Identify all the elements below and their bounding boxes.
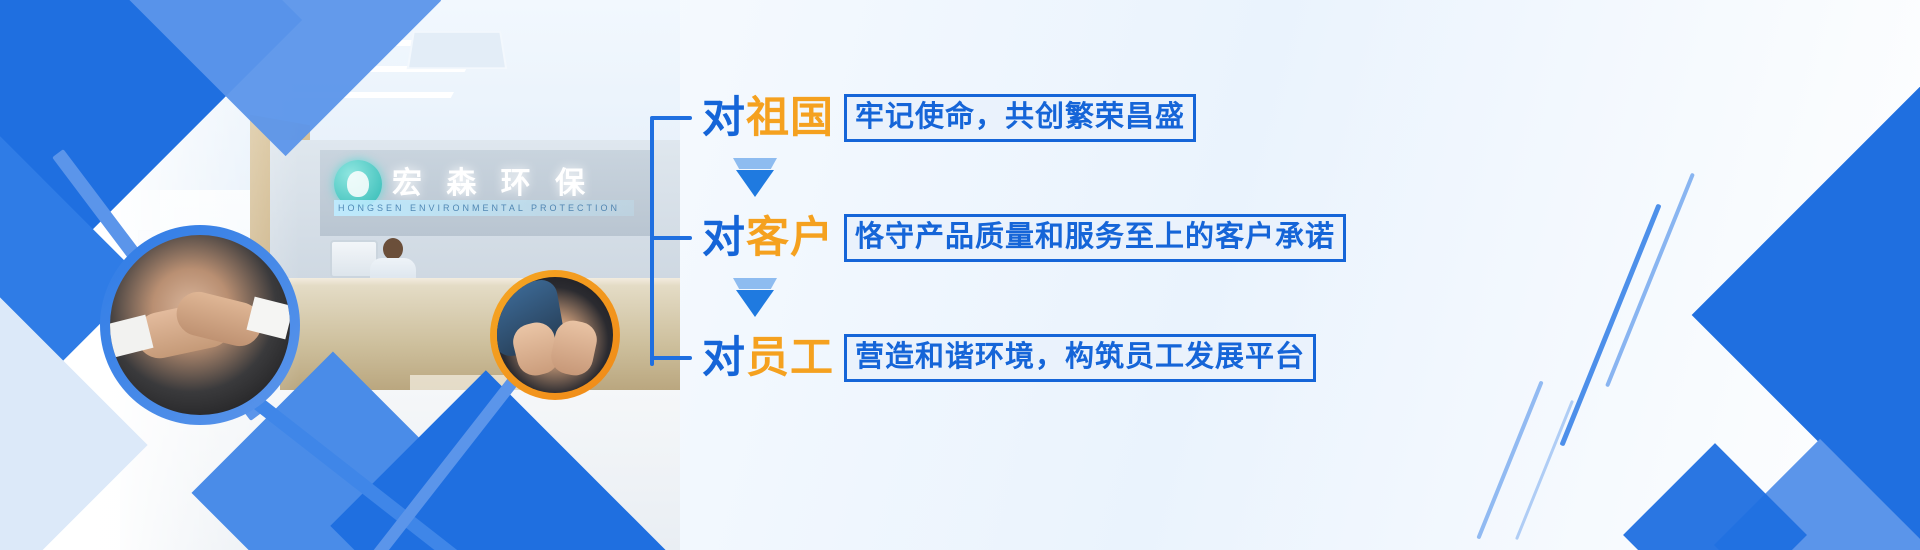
- photo-collage: 宏 森 环 保 HONGSEN ENVIRONMENTAL PROTECTION: [0, 0, 680, 550]
- value-row-3: 对员工 营造和谐环境，构筑员工发展平台: [650, 332, 1316, 384]
- value-row-1: 对祖国 牢记使命，共创繁荣昌盛: [650, 92, 1196, 144]
- row-tick-1: [650, 116, 692, 120]
- handshake-photo: [110, 235, 290, 415]
- arrow-top-2: [733, 278, 777, 289]
- value-heading-2: 对客户: [702, 217, 834, 260]
- row-tick-3: [650, 356, 692, 360]
- corporate-values-banner: 宏 森 环 保 HONGSEN ENVIRONMENTAL PROTECTION: [0, 0, 1920, 550]
- value-prefix-1: 对: [702, 94, 746, 142]
- arrow-top-1: [733, 158, 777, 169]
- value-prefix-3: 对: [702, 334, 746, 382]
- ceiling-vent: [407, 31, 508, 69]
- value-prefix-2: 对: [702, 214, 746, 262]
- applause-photo: [497, 277, 613, 393]
- arrow-bottom-2: [736, 290, 774, 317]
- row-tick-2: [650, 236, 692, 240]
- value-phrase-2: 恪守产品质量和服务至上的客户承诺: [844, 214, 1346, 262]
- value-target-1: 祖国: [746, 94, 834, 142]
- value-row-2: 对客户 恪守产品质量和服务至上的客户承诺: [650, 212, 1346, 264]
- company-name-en: HONGSEN ENVIRONMENTAL PROTECTION: [334, 200, 634, 216]
- decor-line-2: [1605, 173, 1695, 388]
- values-list: 对祖国 牢记使命，共创繁荣昌盛 对客户 恪守产品质量和服务至上的客户承诺 对员工…: [650, 70, 1330, 400]
- arrow-bottom-1: [736, 170, 774, 197]
- decor-line-3: [1476, 380, 1543, 539]
- value-phrase-3: 营造和谐环境，构筑员工发展平台: [844, 334, 1316, 382]
- value-target-3: 员工: [746, 334, 834, 382]
- value-heading-3: 对员工: [702, 337, 834, 380]
- decor-line-1: [1559, 204, 1661, 447]
- receptionist-head: [383, 238, 403, 260]
- value-heading-1: 对祖国: [702, 97, 834, 140]
- value-target-2: 客户: [746, 214, 834, 262]
- value-phrase-1: 牢记使命，共创繁荣昌盛: [844, 94, 1196, 142]
- company-name-cn: 宏 森 环 保: [392, 158, 593, 202]
- company-name-en-plate: HONGSEN ENVIRONMENTAL PROTECTION: [334, 200, 634, 216]
